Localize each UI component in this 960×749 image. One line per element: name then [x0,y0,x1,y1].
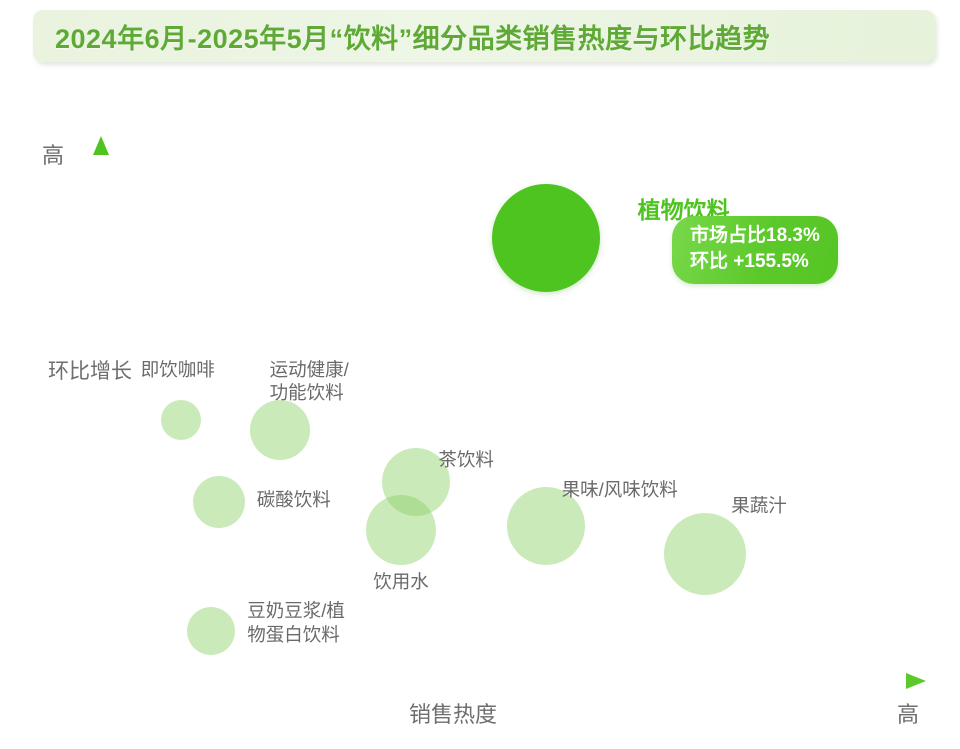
bubble-4[interactable] [193,476,245,528]
bubble-2[interactable] [161,400,201,440]
y-axis-arrow-icon [93,136,109,155]
bubble-label-2: 即饮咖啡 [141,358,215,382]
bubble-label-4: 碳酸饮料 [257,488,331,512]
bubble-1[interactable] [492,184,600,292]
x-axis-title: 销售热度 [409,697,497,729]
x-axis-arrow-icon [906,673,926,689]
bubble-8[interactable] [664,513,746,595]
y-axis-high-label: 高 [42,138,64,170]
highlight-callout-badge: 市场占比18.3% 环比 +155.5% [672,216,838,284]
bubble-label-7: 果味/风味饮料 [562,478,678,502]
bubble-label-9: 豆奶豆浆/植 物蛋白饮料 [247,599,345,646]
bubble-label-6: 饮用水 [373,570,429,594]
bubble-label-3: 运动健康/ 功能饮料 [270,358,349,405]
bubble-chart: 高 环比增长 销售热度 高 植物饮料即饮咖啡运动健康/ 功能饮料碳酸饮料茶饮料饮… [0,0,960,749]
bubble-label-8: 果蔬汁 [731,494,787,518]
bubble-3[interactable] [250,400,310,460]
y-axis-title: 环比增长 [48,358,74,386]
bubble-label-5: 茶饮料 [438,448,494,472]
callout-share-line: 市场占比18.3% [690,223,820,249]
x-axis-high-label: 高 [897,697,919,729]
callout-growth-line: 环比 +155.5% [690,249,820,275]
